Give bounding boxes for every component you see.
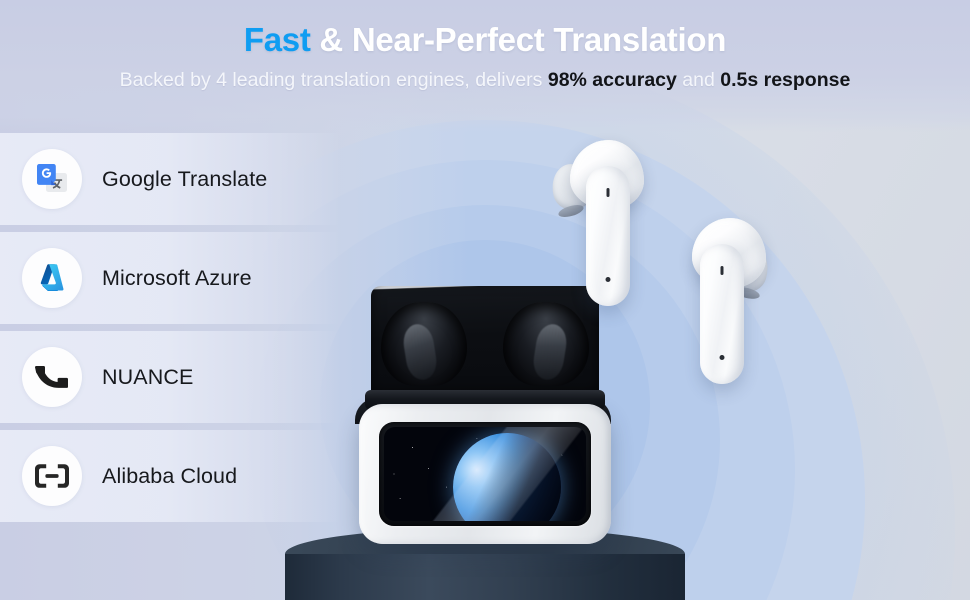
title-accent-word: Fast [244, 21, 311, 58]
case-screen-bezel [379, 422, 591, 526]
earbud-right-stem [700, 244, 744, 384]
engine-item-microsoft-azure[interactable]: Microsoft Azure [0, 232, 340, 324]
earbud-cradle-left [381, 302, 467, 386]
alibaba-cloud-icon [22, 446, 82, 506]
engine-label-microsoft-azure: Microsoft Azure [102, 266, 252, 291]
header: Fast & Near-Perfect Translation Backed b… [0, 0, 970, 91]
earbud-right-mic-slot-icon [721, 266, 724, 275]
engine-label-alibaba-cloud: Alibaba Cloud [102, 464, 237, 489]
podium-cylinder [285, 554, 685, 600]
subtitle-conjunction: and [677, 69, 720, 91]
translation-engine-list: Google Translate [0, 133, 340, 529]
earbud-cradle-right [503, 302, 589, 386]
earbud-slot-shadow-right [531, 322, 569, 382]
engine-label-nuance: NUANCE [102, 365, 193, 390]
earbud-right-sensor-dot-icon [720, 355, 725, 360]
engine-item-alibaba-cloud[interactable]: Alibaba Cloud [0, 430, 340, 522]
title-rest: & Near-Perfect Translation [311, 21, 727, 58]
earbud-left-sensor-dot-icon [606, 277, 611, 282]
google-translate-icon [22, 149, 82, 209]
page-subtitle: Backed by 4 leading translation engines,… [0, 70, 970, 91]
engine-label-google-translate: Google Translate [102, 167, 267, 192]
subtitle-response-highlight: 0.5s response [720, 69, 850, 91]
engine-item-nuance[interactable]: NUANCE [0, 331, 340, 423]
screen-glass-glare [384, 427, 586, 521]
engine-item-google-translate[interactable]: Google Translate [0, 133, 340, 225]
microsoft-azure-icon [22, 248, 82, 308]
case-screen [384, 427, 586, 521]
page-title: Fast & Near-Perfect Translation [0, 0, 970, 58]
subtitle-accuracy-highlight: 98% accuracy [548, 69, 677, 91]
charging-case-open-lid [371, 286, 599, 398]
earbud-left-stem [586, 166, 630, 306]
earbud-slot-shadow-left [401, 322, 439, 382]
subtitle-lead: Backed by 4 leading translation engines,… [120, 69, 548, 91]
charging-case [359, 286, 611, 544]
nuance-icon [22, 347, 82, 407]
promo-banner: Fast & Near-Perfect Translation Backed b… [0, 0, 970, 600]
earbud-left-mic-slot-icon [607, 188, 610, 197]
charging-case-body [359, 404, 611, 544]
